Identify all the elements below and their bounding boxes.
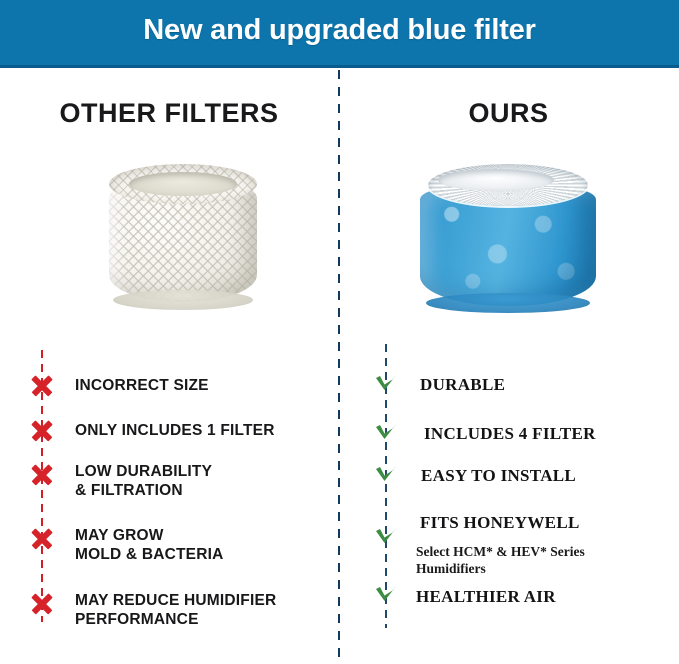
x-icon xyxy=(27,459,57,489)
cons-item-label: ONLY INCLUDES 1 FILTER xyxy=(75,421,325,440)
pros-item-label: EASY TO INSTALL xyxy=(421,465,671,486)
comparison-infographic: New and upgraded blue filter OTHER FILTE… xyxy=(0,0,679,664)
header-banner: New and upgraded blue filter xyxy=(0,0,679,68)
x-icon xyxy=(27,523,57,553)
pros-item-label: HEALTHIER AIR xyxy=(416,586,666,607)
cons-item-label: INCORRECT SIZE xyxy=(75,376,325,395)
check-icon xyxy=(371,522,401,552)
white-mesh-filter-illustration xyxy=(103,160,263,310)
blue-filter-illustration xyxy=(416,158,600,313)
blue-filter-white-rim xyxy=(426,162,590,208)
cons-item-label: LOW DURABILITY & FILTRATION xyxy=(75,462,325,500)
center-divider xyxy=(338,70,340,664)
blue-filter-bottom-rim xyxy=(426,293,590,313)
column-heading-other-filters: OTHER FILTERS xyxy=(0,98,338,129)
white-filter-inner-opening xyxy=(129,172,237,196)
check-icon xyxy=(371,418,401,448)
check-icon xyxy=(371,460,401,490)
column-heading-ours: OURS xyxy=(338,98,679,129)
x-icon xyxy=(27,415,57,445)
pros-item-label: INCLUDES 4 FILTER xyxy=(424,423,674,444)
pros-item-subtext: Select HCM* & HEV* Series Humidifiers xyxy=(416,543,666,577)
pros-item-label: FITS HONEYWELL xyxy=(420,512,670,533)
other-filter-image xyxy=(85,150,275,320)
cons-item-label: MAY GROW MOLD & BACTERIA xyxy=(75,526,325,564)
cons-item-label: MAY REDUCE HUMIDIFIER PERFORMANCE xyxy=(75,591,335,629)
page-title: New and upgraded blue filter xyxy=(0,14,679,47)
our-filter-image xyxy=(408,150,608,320)
x-icon xyxy=(27,588,57,618)
x-icon xyxy=(27,370,57,400)
check-icon xyxy=(371,369,401,399)
white-filter-bottom-rim xyxy=(113,290,253,310)
pros-item-label: DURABLE xyxy=(420,374,670,395)
check-icon xyxy=(371,580,401,610)
